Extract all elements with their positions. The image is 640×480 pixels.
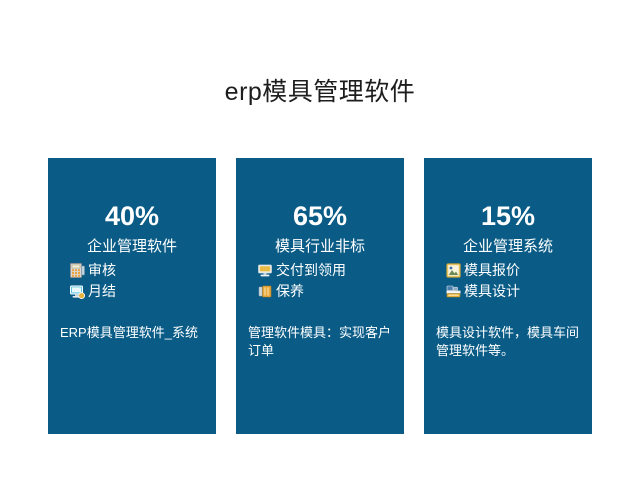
- panel-subtitle: 模具行业非标: [246, 236, 394, 257]
- bullet-list: 交付到领用 保养: [246, 260, 394, 301]
- monitor-icon: [258, 263, 273, 278]
- calculator-icon: [70, 263, 85, 278]
- list-item-label: 模具报价: [464, 261, 520, 279]
- list-item-label: 月结: [88, 282, 116, 300]
- list-item[interactable]: 保养: [246, 281, 394, 301]
- stat-panel-1[interactable]: 40% 企业管理软件: [48, 158, 216, 434]
- panel-body-text: 管理软件模具：实现客户订单: [246, 324, 394, 360]
- list-item-label: 模具设计: [464, 282, 520, 300]
- list-item[interactable]: 月结: [58, 281, 206, 301]
- panel-percent: 40%: [58, 200, 206, 232]
- list-item-label: 审核: [88, 261, 116, 279]
- panel-subtitle: 企业管理系统: [434, 236, 582, 257]
- box-icon: [258, 284, 273, 299]
- panel-percent: 65%: [246, 200, 394, 232]
- stat-panel-3[interactable]: 15% 企业管理系统 模具报价: [424, 158, 592, 434]
- panel-body-text: 模具设计软件，模具车间管理软件等。: [434, 324, 582, 360]
- slide-canvas: erp模具管理软件 40% 企业管理软件: [0, 0, 640, 480]
- list-item[interactable]: 模具报价: [434, 260, 582, 280]
- list-item-label: 交付到领用: [276, 261, 346, 279]
- panel-body-text: ERP模具管理软件_系统: [58, 324, 206, 342]
- page-title: erp模具管理软件: [0, 76, 640, 108]
- list-item-label: 保养: [276, 282, 304, 300]
- panel-subtitle: 企业管理软件: [58, 236, 206, 257]
- bullet-list: 模具报价 模具设计: [434, 260, 582, 301]
- list-item[interactable]: 审核: [58, 260, 206, 280]
- list-item[interactable]: 交付到领用: [246, 260, 394, 280]
- monitor-icon: [70, 284, 85, 299]
- panel-percent: 15%: [434, 200, 582, 232]
- workbench-icon: [446, 284, 461, 299]
- stat-panel-2[interactable]: 65% 模具行业非标 交付到领用: [236, 158, 404, 434]
- bullet-list: 审核 月结: [58, 260, 206, 301]
- panel-group: 40% 企业管理软件: [48, 158, 592, 434]
- picture-icon: [446, 263, 461, 278]
- list-item[interactable]: 模具设计: [434, 281, 582, 301]
